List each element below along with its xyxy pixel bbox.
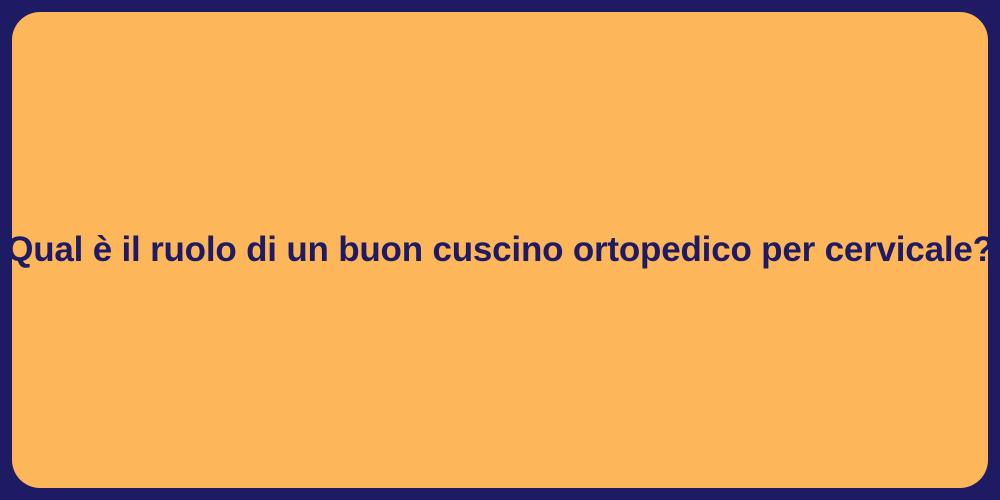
question-heading: Qual è il ruolo di un buon cuscino ortop…: [6, 228, 994, 272]
card-outer-frame: Qual è il ruolo di un buon cuscino ortop…: [0, 0, 1000, 500]
card-panel: Qual è il ruolo di un buon cuscino ortop…: [12, 12, 988, 488]
